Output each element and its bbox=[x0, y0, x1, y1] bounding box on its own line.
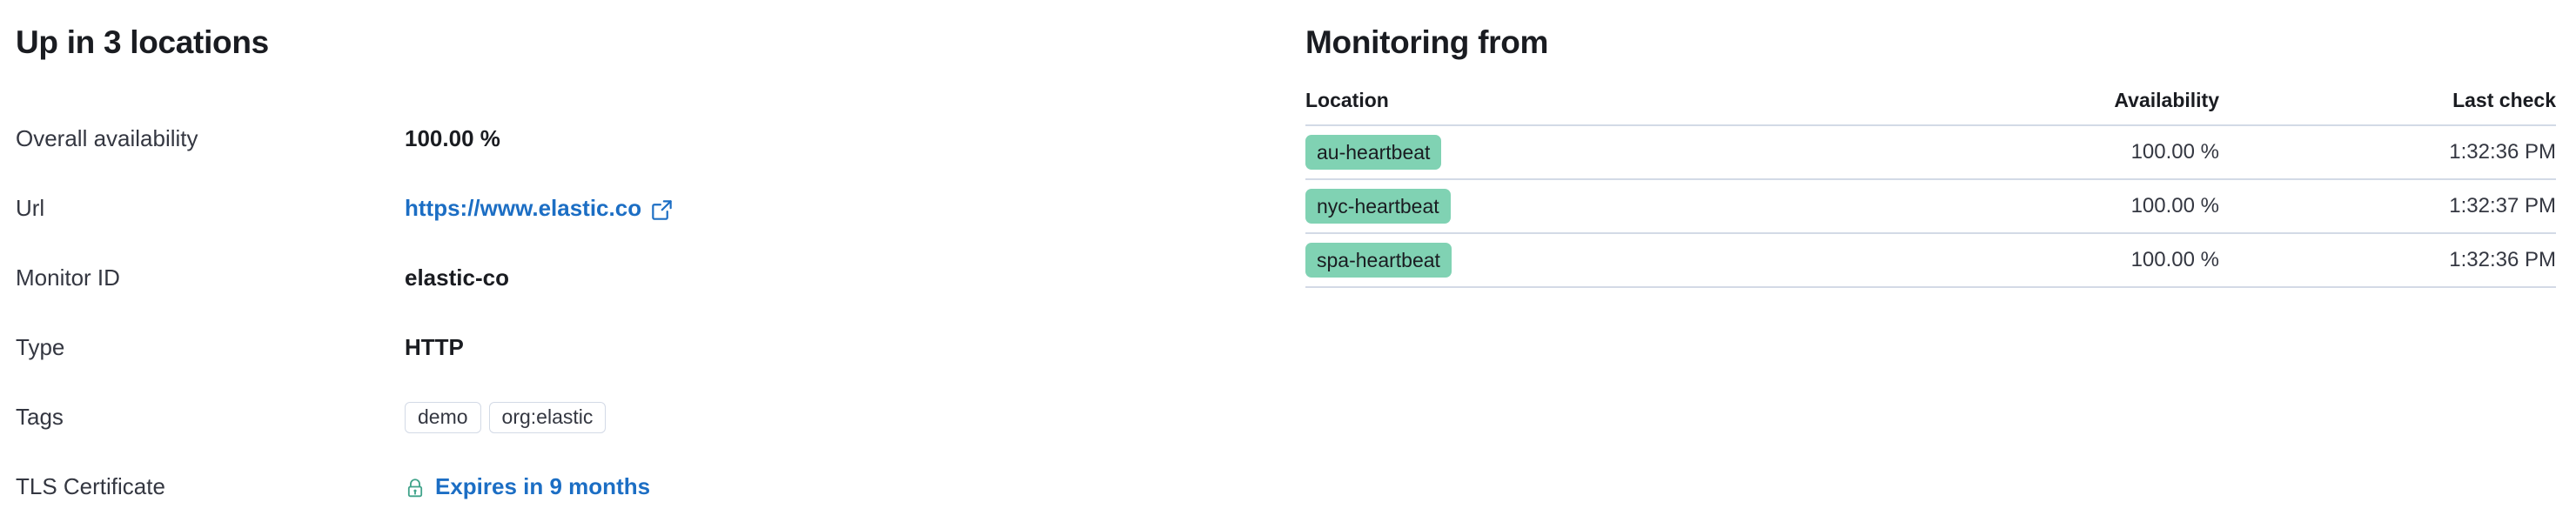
cell-availability: 100.00 % bbox=[1845, 125, 2219, 179]
table-body: au-heartbeat 100.00 % 1:32:36 PM nyc-hea… bbox=[1305, 125, 2556, 287]
detail-row-tls-certificate: TLS Certificate Expires in 9 months bbox=[16, 452, 1234, 522]
tag-badge[interactable]: org:elastic bbox=[489, 402, 607, 433]
cell-last-check: 1:32:36 PM bbox=[2219, 233, 2556, 287]
location-badge[interactable]: spa-heartbeat bbox=[1305, 243, 1452, 278]
detail-row-url: Url https://www.elastic.co bbox=[16, 174, 1234, 244]
monitor-detail-list: Overall availability 100.00 % Url https:… bbox=[16, 104, 1234, 522]
monitor-url-text: https://www.elastic.co bbox=[405, 195, 641, 222]
detail-label-overall-availability: Overall availability bbox=[16, 125, 405, 152]
detail-value-url: https://www.elastic.co bbox=[405, 195, 673, 222]
detail-value-type: HTTP bbox=[405, 334, 464, 361]
column-header-last-check[interactable]: Last check bbox=[2219, 89, 2556, 125]
table-row: au-heartbeat 100.00 % 1:32:36 PM bbox=[1305, 125, 2556, 179]
detail-value-overall-availability: 100.00 % bbox=[405, 125, 500, 152]
cell-location: nyc-heartbeat bbox=[1305, 179, 1845, 233]
detail-value-tags: demo org:elastic bbox=[405, 402, 606, 433]
column-header-location[interactable]: Location bbox=[1305, 89, 1845, 125]
tag-badge[interactable]: demo bbox=[405, 402, 481, 433]
table-row: nyc-heartbeat 100.00 % 1:32:37 PM bbox=[1305, 179, 2556, 233]
monitoring-from-title: Monitoring from bbox=[1305, 24, 1548, 61]
detail-label-type: Type bbox=[16, 334, 405, 361]
table-header: Location Availability Last check bbox=[1305, 89, 2556, 125]
external-link-icon bbox=[651, 199, 673, 221]
cell-availability: 100.00 % bbox=[1845, 233, 2219, 287]
detail-label-monitor-id: Monitor ID bbox=[16, 264, 405, 291]
detail-label-url: Url bbox=[16, 195, 405, 222]
location-badge[interactable]: au-heartbeat bbox=[1305, 135, 1441, 170]
monitor-summary-panel: Up in 3 locations Overall availability 1… bbox=[16, 0, 1234, 519]
table-header-row: Location Availability Last check bbox=[1305, 89, 2556, 125]
cell-last-check: 1:32:37 PM bbox=[2219, 179, 2556, 233]
location-badge[interactable]: nyc-heartbeat bbox=[1305, 189, 1451, 224]
cell-availability: 100.00 % bbox=[1845, 179, 2219, 233]
monitoring-locations-table: Location Availability Last check au-hear… bbox=[1305, 89, 2556, 288]
cell-last-check: 1:32:36 PM bbox=[2219, 125, 2556, 179]
detail-label-tags: Tags bbox=[16, 404, 405, 431]
detail-row-tags: Tags demo org:elastic bbox=[16, 383, 1234, 452]
detail-row-monitor-id: Monitor ID elastic-co bbox=[16, 244, 1234, 313]
tag-list: demo org:elastic bbox=[405, 402, 606, 433]
monitor-detail-page: Up in 3 locations Overall availability 1… bbox=[0, 0, 2576, 519]
column-header-availability[interactable]: Availability bbox=[1845, 89, 2219, 125]
cell-location: au-heartbeat bbox=[1305, 125, 1845, 179]
tls-certificate-text: Expires in 9 months bbox=[435, 473, 650, 500]
cell-location: spa-heartbeat bbox=[1305, 233, 1845, 287]
page-title: Up in 3 locations bbox=[16, 24, 269, 61]
detail-label-tls-certificate: TLS Certificate bbox=[16, 473, 405, 500]
monitoring-from-panel: Monitoring from Location Availability La… bbox=[1305, 0, 2559, 519]
detail-value-tls-certificate: Expires in 9 months bbox=[405, 473, 650, 500]
monitor-url-link[interactable]: https://www.elastic.co bbox=[405, 195, 673, 222]
detail-row-overall-availability: Overall availability 100.00 % bbox=[16, 104, 1234, 174]
tls-certificate-link[interactable]: Expires in 9 months bbox=[405, 473, 650, 500]
table-row: spa-heartbeat 100.00 % 1:32:36 PM bbox=[1305, 233, 2556, 287]
detail-row-type: Type HTTP bbox=[16, 313, 1234, 383]
detail-value-monitor-id: elastic-co bbox=[405, 264, 509, 291]
lock-icon bbox=[405, 478, 426, 499]
